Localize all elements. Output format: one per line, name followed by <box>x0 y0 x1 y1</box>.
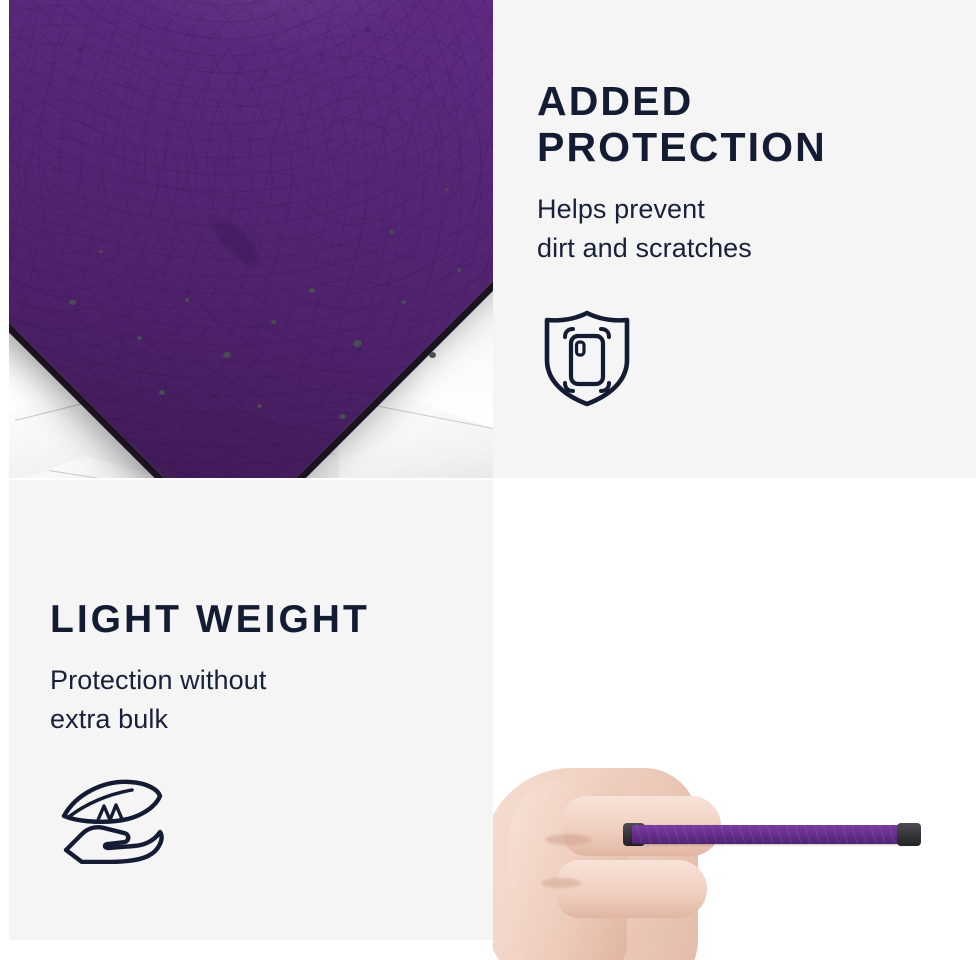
subtext-line-1: Protection without <box>50 665 266 695</box>
light-weight-subtext: Protection withoutextra bulk <box>50 661 480 739</box>
light-weight-panel: LIGHT WEIGHT Protection withoutextra bul… <box>9 480 493 940</box>
impact-photo-panel <box>9 0 493 478</box>
shield-phone-icon-wrap <box>538 308 636 413</box>
light-weight-headline: LIGHT WEIGHT <box>50 598 480 642</box>
debris-particle <box>69 300 76 305</box>
case-end-cap-right <box>897 823 921 846</box>
impact-photo <box>9 0 493 478</box>
subtext-line-1: Helps prevent <box>537 194 705 224</box>
debris-particle <box>457 268 461 272</box>
feather-barbs <box>98 805 122 820</box>
subtext-line-2: extra bulk <box>50 704 168 734</box>
camera-bump <box>577 342 585 355</box>
bracket-br <box>601 383 609 391</box>
headline-line-2: PROTECTION <box>537 124 827 170</box>
debris-particle <box>389 230 394 234</box>
debris-particle <box>309 288 315 293</box>
thinness-photo-panel <box>493 480 976 960</box>
bracket-tr <box>601 329 609 337</box>
debris-particle <box>257 404 262 408</box>
debris-particle <box>429 352 436 358</box>
added-protection-panel: ADDEDPROTECTION Helps preventdirt and sc… <box>493 0 976 478</box>
thumb-finger <box>557 860 707 918</box>
bracket-bl <box>565 383 573 391</box>
phone-case-edge <box>632 825 906 844</box>
added-protection-headline: ADDEDPROTECTION <box>537 78 957 171</box>
debris-particle <box>99 250 103 253</box>
debris-particle <box>159 390 165 395</box>
debris-particle <box>185 298 189 302</box>
subtext-line-2: dirt and scratches <box>537 233 752 263</box>
knuckle-crease <box>545 834 591 845</box>
debris-particle <box>271 320 276 324</box>
feature-grid-sheet: ADDEDPROTECTION Helps preventdirt and sc… <box>0 0 976 960</box>
added-protection-copy: ADDEDPROTECTION Helps preventdirt and sc… <box>537 78 957 267</box>
debris-particle <box>137 336 142 340</box>
debris-particle <box>401 300 406 304</box>
debris-particle <box>445 188 449 191</box>
headline-line-1: ADDED <box>537 78 693 124</box>
debris-particle <box>339 414 346 419</box>
thinness-photo <box>501 628 976 960</box>
open-hand-outline <box>66 827 162 862</box>
added-protection-subtext: Helps preventdirt and scratches <box>537 190 957 268</box>
light-weight-copy: LIGHT WEIGHT Protection withoutextra bul… <box>50 598 480 739</box>
debris-particle <box>353 340 362 347</box>
bracket-tl <box>565 329 573 337</box>
knuckle-crease <box>541 878 581 888</box>
shield-phone-icon <box>538 308 636 408</box>
feather-in-hand-icon-wrap <box>60 776 168 869</box>
debris-particle <box>223 352 231 358</box>
feather-in-hand-icon <box>60 776 168 864</box>
